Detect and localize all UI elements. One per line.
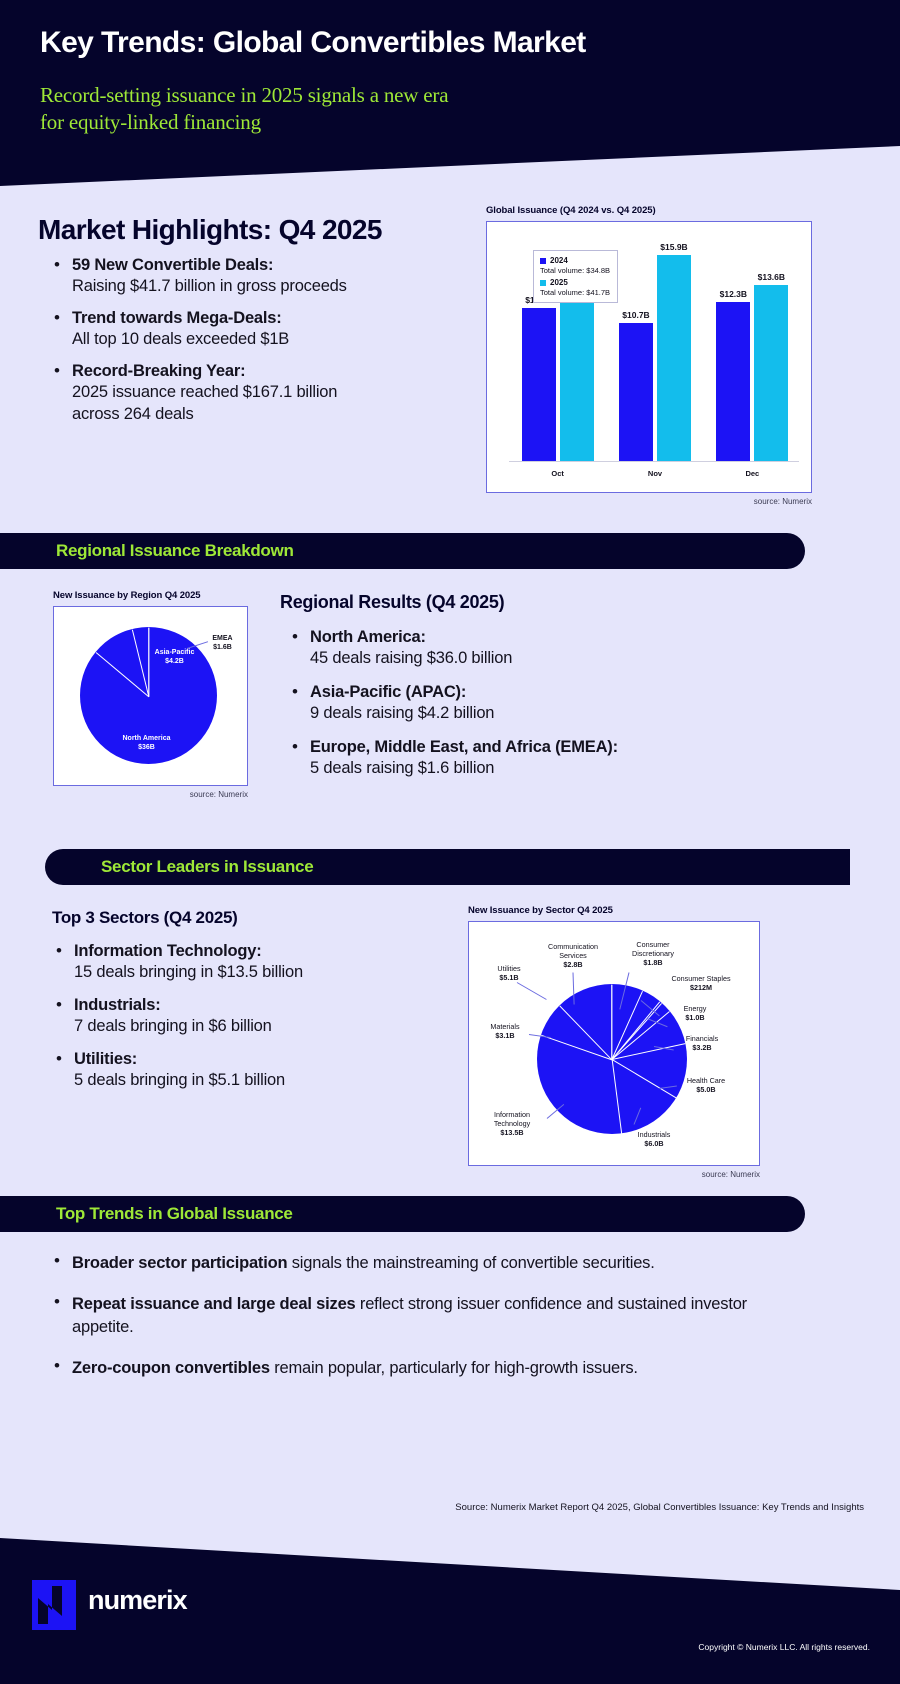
sector-pie-label-value: $5.1B [481,973,537,982]
sector-head: Utilities: [74,1050,442,1069]
sector-pie-title: New Issuance by Sector Q4 2025 [468,905,760,916]
pie-label-name: EMEA [192,634,254,643]
leader-line-communication-services [573,972,575,1004]
legend-row-2024: 2024 [540,256,610,265]
sector-pie-label-name: Communication Services [537,942,609,960]
sector-pie-source: source: Numerix [468,1170,760,1179]
x-tick-Dec: Dec [712,469,792,478]
sector-pie-label-value: $1.8B [617,958,689,967]
sector-pie-label-name: Consumer Staples [651,974,751,983]
top-trends-list: Broader sector participation signals the… [50,1252,750,1398]
section-banner-sector: Sector Leaders in Issuance [45,849,850,885]
list-item: Information Technology: 15 deals bringin… [52,942,442,983]
sector-pie-label-information-technology: Information Technology$13.5B [475,1110,549,1137]
bar-2024-Nov [619,323,653,462]
top-sectors-heading: Top 3 Sectors (Q4 2025) [52,908,238,928]
footer-copyright: Copyright © Numerix LLC. All rights rese… [698,1642,870,1652]
list-item: Record-Breaking Year: 2025 issuance reac… [50,362,450,425]
numerix-logo-glyph-icon [32,1580,76,1630]
sector-pie-label-consumer-discretionary: Consumer Discretionary$1.8B [617,940,689,967]
sector-pie-chart-panel: New Issuance by Sector Q4 2025 Utilities… [468,905,760,1179]
bar-2025-Oct [560,303,594,462]
sector-body: 5 deals bringing in $5.1 billion [74,1069,442,1091]
sector-pie-label-industrials: Industrials$6.0B [619,1130,689,1148]
regional-body: 45 deals raising $36.0 billion [310,647,708,669]
sector-pie-label-value: $13.5B [475,1128,549,1137]
bar-value-label: $13.6B [741,272,801,282]
list-item: Zero-coupon convertibles remain popular,… [50,1357,750,1380]
list-item: Asia-Pacific (APAC): 9 deals raising $4.… [288,683,708,724]
x-tick-Nov: Nov [615,469,695,478]
region-pie-box: North America$36BAsia-Pacific$4.2BEMEA$1… [53,606,248,786]
page-subtitle-line1: Record-setting issuance in 2025 signals … [40,82,448,109]
legend-swatch-2025 [540,280,546,286]
bar-chart-box: $11.8B$12.2B$10.7B$15.9B$12.3B$13.6B Oct… [486,221,812,493]
sector-pie-label-value: $6.0B [619,1139,689,1148]
sector-pie-label-name: Materials [477,1022,533,1031]
market-highlights-heading: Market Highlights: Q4 2025 [38,214,382,246]
region-pie-source: source: Numerix [53,790,248,799]
sector-pie-label-value: $212M [651,983,751,992]
top-sectors-list: Information Technology: 15 deals bringin… [52,942,442,1104]
sector-pie-label-name: Consumer Discretionary [617,940,689,958]
legend-label-2025: 2025 [550,278,568,287]
bar-2024-Oct [522,308,556,462]
section-banner-regional-label: Regional Issuance Breakdown [56,541,294,561]
bar-chart-legend: 2024 Total volume: $34.8B 2025 Total vol… [533,250,618,303]
trend-text-2: Zero-coupon convertibles remain popular,… [72,1357,750,1380]
trend-text-1: Repeat issuance and large deal sizes ref… [72,1293,750,1339]
x-axis-line [509,461,799,462]
list-item: 59 New Convertible Deals: Raising $41.7 … [50,256,450,297]
section-banner-regional: Regional Issuance Breakdown [0,533,805,569]
trend-text-0: Broader sector participation signals the… [72,1252,750,1275]
regional-results-heading: Regional Results (Q4 2025) [280,592,504,613]
legend-swatch-2024 [540,258,546,264]
section-banner-sector-label: Sector Leaders in Issuance [101,857,313,877]
list-item: Trend towards Mega-Deals: All top 10 dea… [50,309,450,350]
market-highlights-list: 59 New Convertible Deals: Raising $41.7 … [50,256,450,437]
list-item: Industrials: 7 deals bringing in $6 bill… [52,996,442,1037]
sector-pie-label-name: Utilities [481,964,537,973]
legend-row-2025: 2025 [540,278,610,287]
section-banner-trends-label: Top Trends in Global Issuance [56,1204,293,1224]
highlight-head: 59 New Convertible Deals: [72,256,450,275]
pie-label-value: $4.2B [144,657,206,666]
regional-body: 5 deals raising $1.6 billion [310,757,708,779]
pie-label-north-america: North America$36B [116,734,178,752]
bar-chart-source: source: Numerix [486,497,812,506]
regional-head: North America: [310,628,708,647]
regional-head: Europe, Middle East, and Africa (EMEA): [310,738,708,757]
sector-pie-label-materials: Materials$3.1B [477,1022,533,1040]
highlight-body: All top 10 deals exceeded $1B [72,328,450,350]
list-item: Repeat issuance and large deal sizes ref… [50,1293,750,1339]
sector-pie-label-value: $2.8B [537,960,609,969]
sector-pie-label-consumer-staples: Consumer Staples$212M [651,974,751,992]
sector-pie-label-utilities: Utilities$5.1B [481,964,537,982]
pie-label-value: $36B [116,743,178,752]
numerix-wordmark: numerix [88,1585,187,1616]
sector-pie-box: Utilities$5.1BCommunication Services$2.8… [468,921,760,1166]
regional-body: 9 deals raising $4.2 billion [310,702,708,724]
sector-head: Information Technology: [74,942,442,961]
pie-separator [611,985,612,1060]
regional-results-list: North America: 45 deals raising $36.0 bi… [288,628,708,793]
infographic-page: Key Trends: Global Convertibles Market R… [0,0,900,1684]
footer-source-note: Source: Numerix Market Report Q4 2025, G… [455,1502,864,1513]
highlight-head: Record-Breaking Year: [72,362,450,381]
x-tick-Oct: Oct [518,469,598,478]
legend-label-2024: 2024 [550,256,568,265]
sector-pie-label-energy: Energy$1.0B [665,1004,725,1022]
highlight-body: Raising $41.7 billion in gross proceeds [72,275,450,297]
list-item: North America: 45 deals raising $36.0 bi… [288,628,708,669]
list-item: Utilities: 5 deals bringing in $5.1 bill… [52,1050,442,1091]
sector-body: 7 deals bringing in $6 billion [74,1015,442,1037]
highlight-head: Trend towards Mega-Deals: [72,309,450,328]
sector-pie-label-name: Information Technology [475,1110,549,1128]
bar-2025-Dec [754,285,788,462]
sector-pie-label-name: Health Care [673,1076,739,1085]
regional-head: Asia-Pacific (APAC): [310,683,708,702]
bar-chart-title: Global Issuance (Q4 2024 vs. Q4 2025) [486,205,812,216]
legend-total-2024: Total volume: $34.8B [540,266,610,275]
sector-body: 15 deals bringing in $13.5 billion [74,961,442,983]
page-subtitle-line2: for equity-linked financing [40,109,448,136]
bar-value-label: $15.9B [644,242,704,252]
sector-pie-label-value: $1.0B [665,1013,725,1022]
sector-head: Industrials: [74,996,442,1015]
sector-pie-label-value: $5.0B [673,1085,739,1094]
region-pie-title: New Issuance by Region Q4 2025 [53,590,248,601]
page-subtitle: Record-setting issuance in 2025 signals … [40,82,448,136]
sector-pie-label-financials: Financials$3.2B [669,1034,735,1052]
legend-total-2025: Total volume: $41.7B [540,288,610,297]
page-title: Key Trends: Global Convertibles Market [40,26,586,60]
section-banner-trends: Top Trends in Global Issuance [0,1196,805,1232]
pie-label-name: North America [116,734,178,743]
sector-pie-label-name: Energy [665,1004,725,1013]
list-item: Broader sector participation signals the… [50,1252,750,1275]
bar-2024-Dec [716,302,750,462]
region-pie-chart-panel: New Issuance by Region Q4 2025 North Ame… [53,590,248,799]
sector-pie-label-value: $3.2B [669,1043,735,1052]
leader-line-utilities [517,982,547,1000]
bar-2025-Nov [657,255,691,462]
sector-pie-label-name: Industrials [619,1130,689,1139]
list-item: Europe, Middle East, and Africa (EMEA): … [288,738,708,779]
global-issuance-bar-chart-panel: Global Issuance (Q4 2024 vs. Q4 2025) $1… [486,205,812,506]
highlight-body: 2025 issuance reached $167.1 billion acr… [72,381,372,425]
sector-pie-label-health-care: Health Care$5.0B [673,1076,739,1094]
sector-pie-label-value: $3.1B [477,1031,533,1040]
sector-pie-label-name: Financials [669,1034,735,1043]
sector-pie-label-communication-services: Communication Services$2.8B [537,942,609,969]
